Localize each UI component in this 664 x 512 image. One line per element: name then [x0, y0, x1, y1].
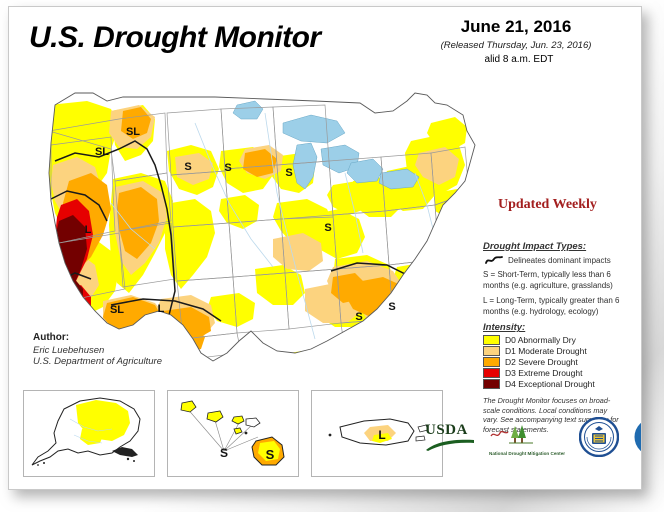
official-seal-icon	[579, 417, 619, 457]
legend-impact-heading: Drought Impact Types:	[483, 241, 633, 252]
delineates-label: Delineates dominant impacts	[508, 256, 611, 265]
usda-logo: USDA	[425, 423, 475, 457]
map-impact-label-5: L	[85, 224, 92, 236]
intensity-swatch-d3	[483, 368, 500, 378]
seal-logo	[579, 417, 619, 462]
page-background: U.S. Drought Monitor June 21, 2016 (Rele…	[0, 0, 664, 512]
inset-alaska	[23, 390, 155, 477]
legend-intensity-heading: Intensity:	[483, 322, 633, 333]
intensity-row-d4: D4 Exceptional Drought	[483, 379, 633, 389]
updated-weekly-text: Updated Weekly	[498, 197, 597, 213]
intensity-swatch-d4	[483, 379, 500, 389]
intensity-row-d0: D0 Abnormally Dry	[483, 335, 633, 345]
noaa-logo: NOAA	[633, 417, 642, 462]
map-impact-label-4: S	[285, 167, 292, 179]
intensity-row-d1: D1 Moderate Drought	[483, 346, 633, 356]
intensity-label-d1: D1 Moderate Drought	[505, 346, 587, 356]
map-impact-label-10: S	[355, 311, 362, 323]
intensity-label-d4: D4 Exceptional Drought	[505, 379, 595, 389]
map-impact-label-6: S	[324, 222, 331, 234]
hawaii-label-s: S	[220, 446, 228, 460]
author-name: Eric Luebehusen	[33, 345, 162, 357]
map-impact-label-0: SL	[126, 126, 140, 138]
intensity-swatch-d2	[483, 357, 500, 367]
intensity-label-d2: D2 Severe Drought	[505, 357, 578, 367]
delineation-legend-row: Delineates dominant impacts	[485, 255, 633, 265]
agency-logos: USDA National Drought Mitigation Center	[425, 417, 642, 462]
ndmc-logo-text: National Drought Mitigation Center	[489, 451, 565, 457]
map-impact-label-2: S	[184, 161, 191, 173]
usda-swoosh-icon	[425, 438, 475, 452]
inset-puerto-rico: L	[311, 390, 443, 477]
intensity-row-d3: D3 Extreme Drought	[483, 368, 633, 378]
squiggle-icon	[485, 255, 503, 265]
page-title: U.S. Drought Monitor	[29, 21, 321, 55]
map-impact-label-9: S	[388, 301, 395, 313]
map-date: June 21, 2016	[401, 17, 631, 37]
long-term-definition: L = Long-Term, typically greater than 6 …	[483, 296, 633, 317]
usda-logo-text: USDA	[425, 423, 475, 438]
inset-hawaii: S S	[167, 390, 299, 477]
author-label: Author:	[33, 332, 162, 345]
intensity-swatch-list: D0 Abnormally DryD1 Moderate DroughtD2 S…	[483, 335, 633, 389]
intensity-label-d0: D0 Abnormally Dry	[505, 335, 576, 345]
intensity-swatch-d0	[483, 335, 500, 345]
author-block: Author: Eric Luebehusen U.S. Department …	[33, 332, 162, 368]
release-date: (Released Thursday, Jun. 23, 2016)	[401, 40, 631, 51]
map-impact-label-7: SL	[110, 304, 124, 316]
ndmc-emblem-icon	[489, 422, 535, 446]
hawaii-island-label-s: S	[266, 447, 275, 462]
inset-maps: S S L	[23, 390, 443, 477]
intensity-swatch-d1	[483, 346, 500, 356]
ndmc-logo: National Drought Mitigation Center	[489, 422, 565, 457]
intensity-row-d2: D2 Severe Drought	[483, 357, 633, 367]
map-impact-label-1: SL	[95, 146, 109, 158]
noaa-emblem-icon: NOAA	[633, 417, 642, 457]
map-impact-label-8: L	[158, 303, 165, 315]
author-agency: U.S. Department of Agriculture	[33, 356, 162, 368]
short-term-definition: S = Short-Term, typically less than 6 mo…	[483, 270, 633, 291]
pr-label-l: L	[378, 428, 385, 442]
intensity-label-d3: D3 Extreme Drought	[505, 368, 582, 378]
legend: Drought Impact Types: Delineates dominan…	[483, 241, 633, 434]
map-impact-label-3: S	[224, 162, 231, 174]
drought-monitor-poster: U.S. Drought Monitor June 21, 2016 (Rele…	[8, 6, 642, 490]
